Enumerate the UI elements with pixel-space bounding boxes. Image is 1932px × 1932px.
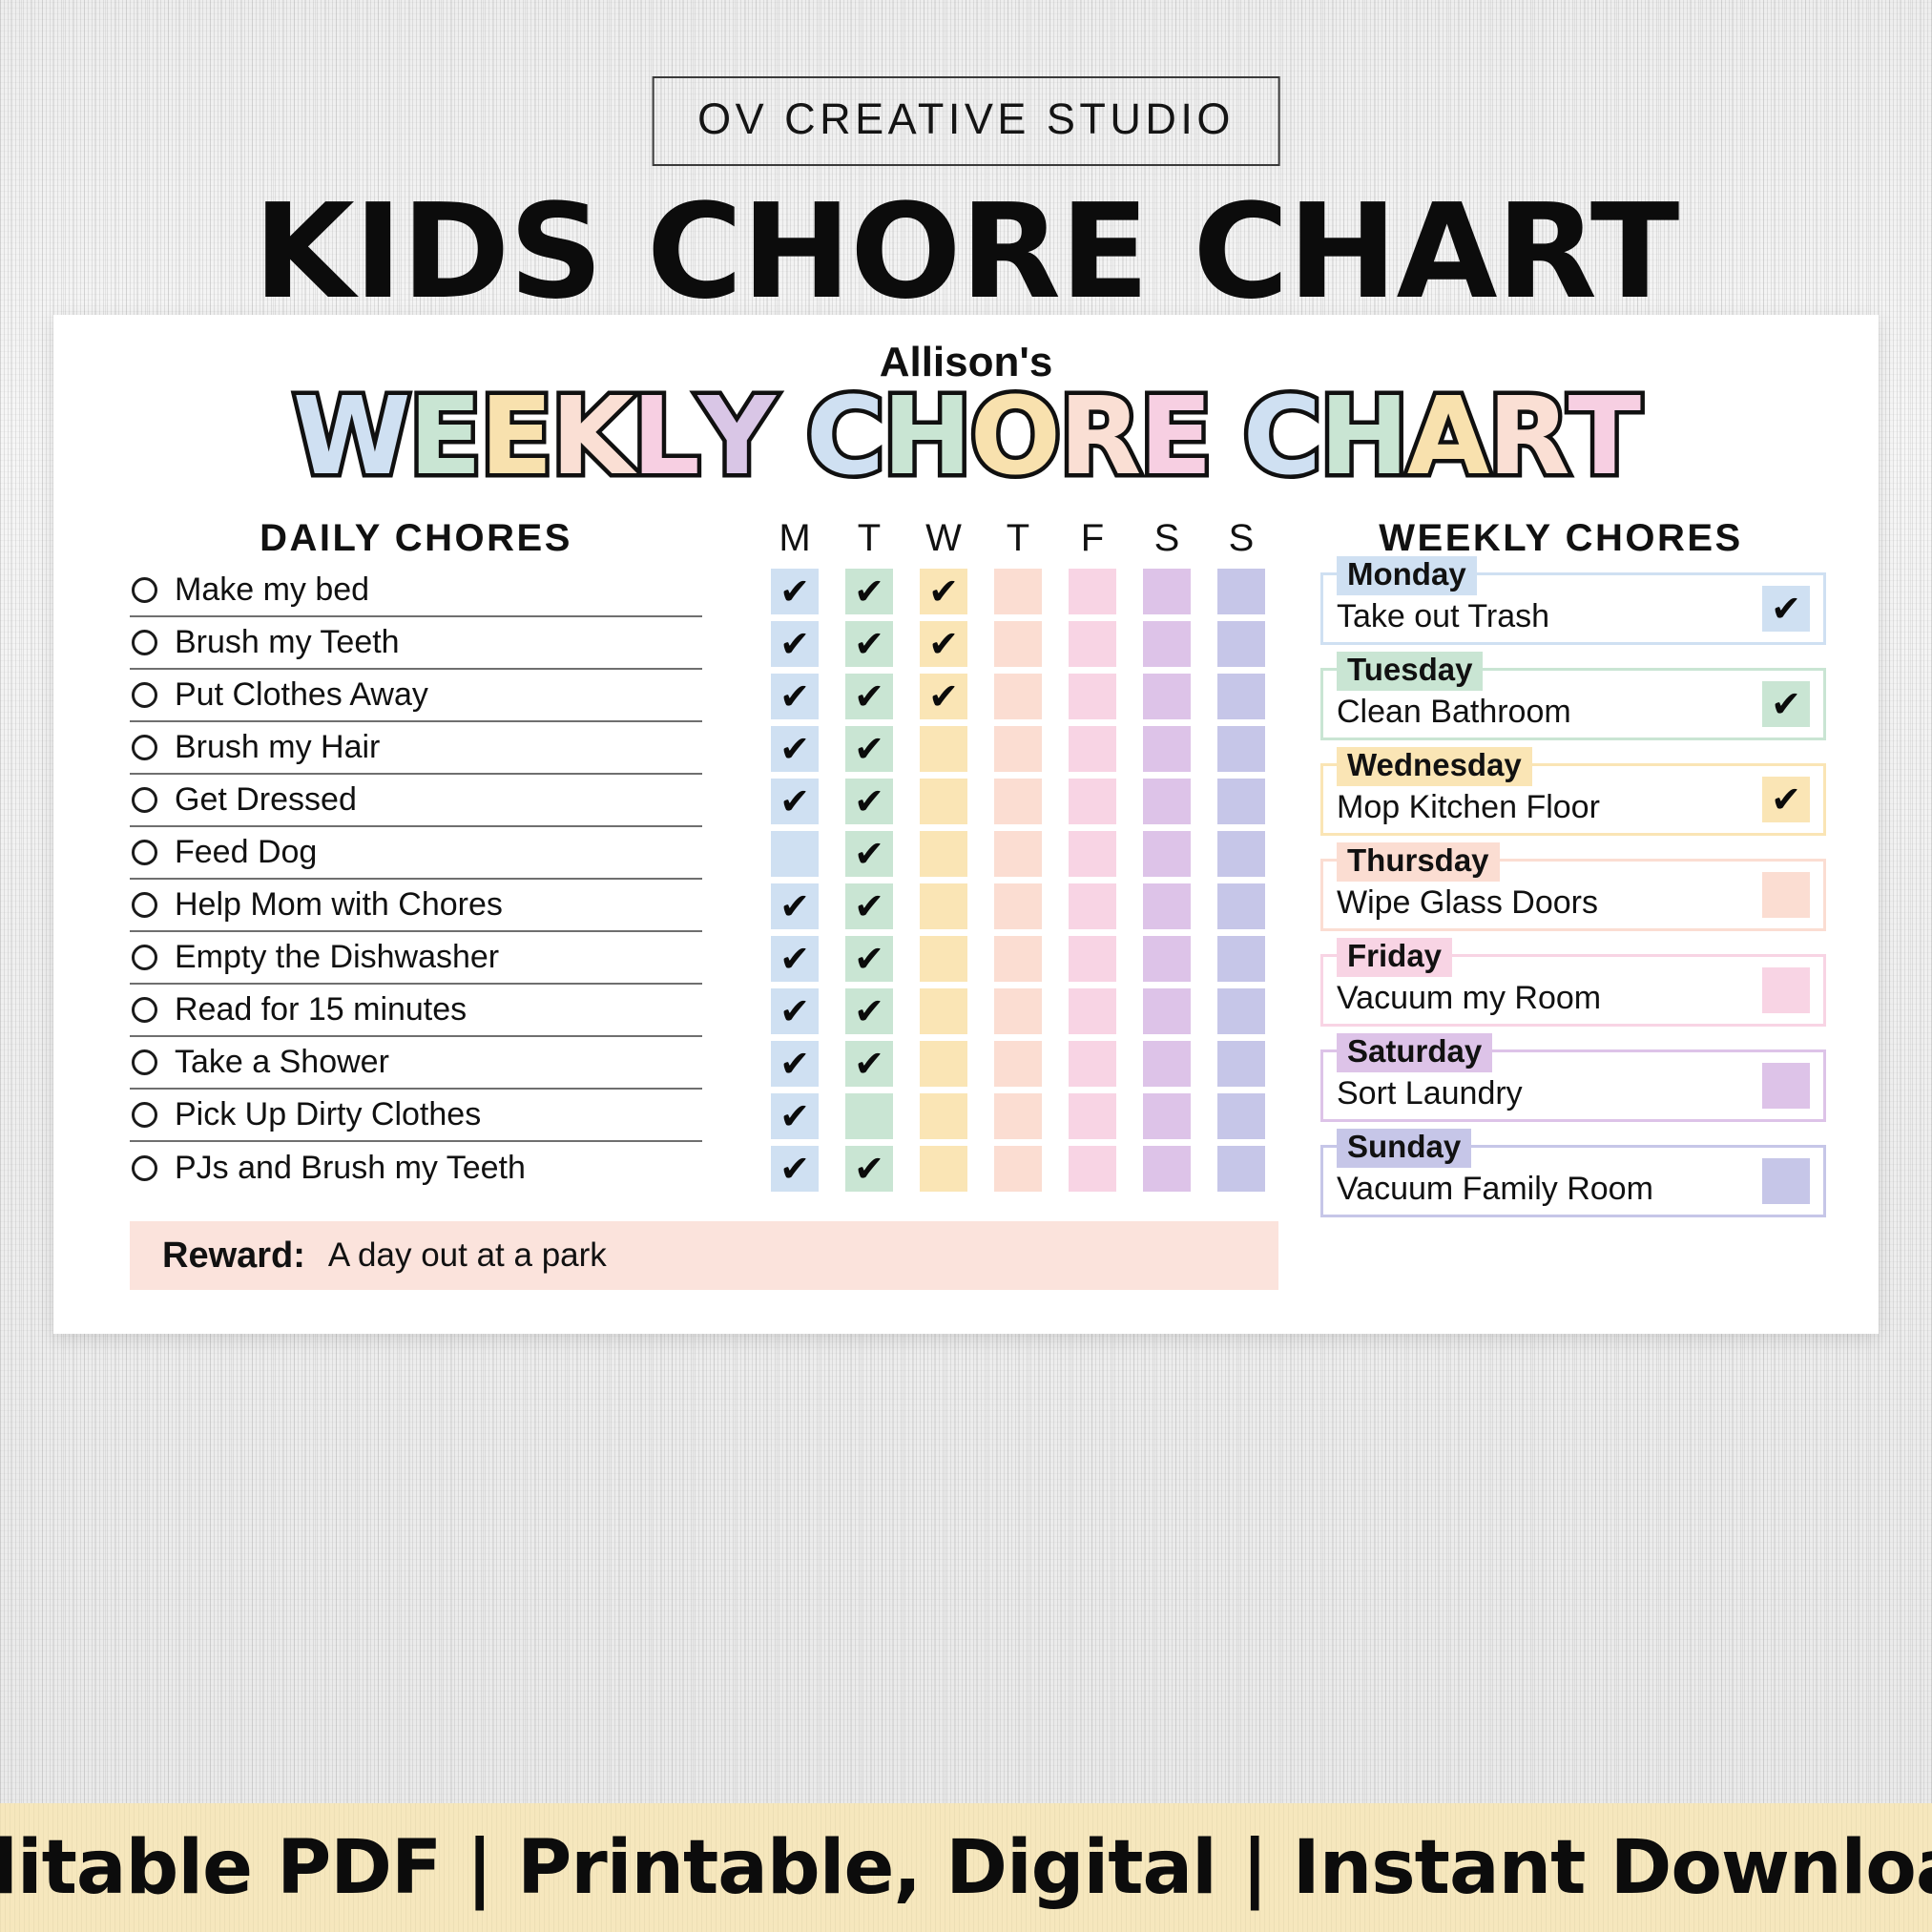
weekly-checkbox-empty[interactable] — [1762, 872, 1810, 918]
grid-cell — [1204, 827, 1278, 880]
checkbox-empty[interactable] — [994, 569, 1042, 614]
weekly-day-label: Thursday — [1337, 842, 1500, 882]
checkbox-empty[interactable] — [994, 1146, 1042, 1192]
grid-cell — [981, 775, 1055, 827]
chore-label: Pick Up Dirty Clothes — [175, 1096, 481, 1133]
bubble-letter: C — [806, 384, 884, 490]
grid-cell — [981, 1142, 1055, 1195]
checkbox-checked[interactable]: ✔ — [845, 726, 893, 772]
grid-cell: ✔ — [758, 617, 832, 670]
checkbox-empty[interactable] — [920, 779, 967, 824]
bubble-letter: O — [970, 384, 1061, 490]
checkbox-checked[interactable]: ✔ — [845, 988, 893, 1034]
weekly-day-label: Friday — [1337, 938, 1452, 977]
checkbox-checked[interactable]: ✔ — [771, 569, 819, 614]
grid-cell: ✔ — [758, 722, 832, 775]
grid-cell: ✔ — [832, 775, 906, 827]
grid-cell: ✔ — [906, 565, 981, 617]
weekly-day-label: Wednesday — [1337, 747, 1532, 786]
checkbox-empty[interactable] — [1143, 936, 1191, 982]
grid-cell — [1055, 1090, 1130, 1142]
chore-label: Empty the Dishwasher — [175, 939, 499, 976]
weekly-task-text[interactable]: Sort Laundry — [1337, 1075, 1523, 1112]
grid-cell: ✔ — [832, 670, 906, 722]
checkbox-empty[interactable] — [1217, 883, 1265, 929]
grid-cell — [1204, 1037, 1278, 1090]
grid-cell — [906, 932, 981, 985]
grid-cell: ✔ — [758, 775, 832, 827]
chore-row: Feed Dog — [130, 827, 702, 880]
grid-cell — [981, 565, 1055, 617]
chore-row: Make my bed — [130, 565, 702, 617]
weekly-task-text[interactable]: Take out Trash — [1337, 598, 1549, 635]
chore-row: Put Clothes Away — [130, 670, 702, 722]
circle-checkbox-icon[interactable] — [132, 577, 157, 603]
checkbox-checked[interactable]: ✔ — [920, 674, 967, 719]
checkbox-empty[interactable] — [1143, 883, 1191, 929]
grid-cell — [1130, 565, 1204, 617]
chore-row: Help Mom with Chores — [130, 880, 702, 932]
grid-cell: ✔ — [832, 985, 906, 1037]
checkbox-checked[interactable]: ✔ — [771, 674, 819, 719]
grid-cell — [1130, 827, 1204, 880]
checkbox-checked[interactable]: ✔ — [845, 569, 893, 614]
checkbox-checked[interactable]: ✔ — [845, 1041, 893, 1087]
circle-checkbox-icon[interactable] — [132, 945, 157, 970]
checkbox-checked[interactable]: ✔ — [771, 1041, 819, 1087]
grid-cell — [1130, 722, 1204, 775]
weekly-task-text[interactable]: Clean Bathroom — [1337, 694, 1571, 731]
circle-checkbox-icon[interactable] — [132, 997, 157, 1023]
grid-cell — [981, 1037, 1055, 1090]
weekly-task-text[interactable]: Wipe Glass Doors — [1337, 884, 1598, 922]
weekly-chore-card: SaturdaySort Laundry — [1320, 1049, 1826, 1122]
grid-cell — [906, 880, 981, 932]
weekly-chore-card: SundayVacuum Family Room — [1320, 1145, 1826, 1217]
chore-row: Empty the Dishwasher — [130, 932, 702, 985]
circle-checkbox-icon[interactable] — [132, 892, 157, 918]
grid-cell — [1130, 985, 1204, 1037]
checkbox-empty[interactable] — [1143, 1093, 1191, 1139]
grid-cell — [1204, 932, 1278, 985]
grid-cell — [981, 985, 1055, 1037]
checkbox-empty[interactable] — [1069, 779, 1116, 824]
bubble-word-weekly: WEEKLY — [293, 384, 774, 490]
checkbox-checked[interactable]: ✔ — [845, 621, 893, 667]
daily-chores-heading: DAILY CHORES — [130, 517, 702, 560]
grid-cell — [1130, 617, 1204, 670]
reward-bar: Reward: A day out at a park — [130, 1221, 1278, 1290]
checkbox-empty[interactable] — [994, 1041, 1042, 1087]
chore-label: Make my bed — [175, 571, 369, 609]
grid-cell — [1055, 932, 1130, 985]
circle-checkbox-icon[interactable] — [132, 735, 157, 760]
footer-text: Editable PDF | Printable, Digital | Inst… — [0, 1825, 1932, 1911]
checkbox-empty[interactable] — [920, 988, 967, 1034]
circle-checkbox-icon[interactable] — [132, 787, 157, 813]
checkbox-empty[interactable] — [1069, 988, 1116, 1034]
bubble-letter: W — [293, 384, 411, 490]
weekly-checkbox-checked[interactable]: ✔ — [1762, 681, 1810, 727]
bubble-letter: Y — [698, 384, 776, 490]
chore-row: Brush my Hair — [130, 722, 702, 775]
checkbox-checked[interactable]: ✔ — [845, 674, 893, 719]
checkbox-empty[interactable] — [1069, 1041, 1116, 1087]
weekly-day-label: Tuesday — [1337, 652, 1483, 691]
grid-cell — [1130, 880, 1204, 932]
checkbox-checked[interactable]: ✔ — [920, 621, 967, 667]
checkbox-empty[interactable] — [1143, 779, 1191, 824]
checkbox-empty[interactable] — [1217, 1093, 1265, 1139]
grid-cell — [1055, 775, 1130, 827]
weekly-day-label: Sunday — [1337, 1129, 1471, 1168]
grid-cell: ✔ — [758, 932, 832, 985]
chore-row: Read for 15 minutes — [130, 985, 702, 1037]
checkbox-empty[interactable] — [920, 831, 967, 877]
grid-cell — [1204, 880, 1278, 932]
grid-cell: ✔ — [832, 1037, 906, 1090]
grid-cell — [1055, 1037, 1130, 1090]
brand-name: OV CREATIVE STUDIO — [697, 94, 1235, 144]
grid-cell — [906, 985, 981, 1037]
checkbox-checked[interactable]: ✔ — [771, 1146, 819, 1192]
grid-cell — [1055, 985, 1130, 1037]
checkbox-empty[interactable] — [1217, 831, 1265, 877]
grid-cell — [1055, 722, 1130, 775]
chore-row: PJs and Brush my Teeth — [130, 1142, 702, 1195]
grid-cell — [1130, 775, 1204, 827]
grid-cell: ✔ — [758, 670, 832, 722]
checkbox-empty[interactable] — [1217, 674, 1265, 719]
grid-cell: ✔ — [832, 565, 906, 617]
checkbox-empty[interactable] — [920, 1041, 967, 1087]
grid-cell: ✔ — [758, 1142, 832, 1195]
bubble-word-chore: CHORE — [806, 384, 1211, 490]
checkbox-checked[interactable]: ✔ — [771, 621, 819, 667]
checkbox-empty[interactable] — [1217, 988, 1265, 1034]
checkbox-empty[interactable] — [1143, 1146, 1191, 1192]
grid-cell — [1055, 617, 1130, 670]
checkbox-empty[interactable] — [1217, 1146, 1265, 1192]
grid-cell: ✔ — [906, 670, 981, 722]
footer-banner: Editable PDF | Printable, Digital | Inst… — [0, 1803, 1932, 1932]
grid-cell — [1204, 722, 1278, 775]
checkbox-empty[interactable] — [920, 1146, 967, 1192]
grid-cell — [832, 1090, 906, 1142]
checkbox-empty[interactable] — [1143, 726, 1191, 772]
bubble-letter: C — [1243, 384, 1321, 490]
checkbox-checked[interactable]: ✔ — [845, 936, 893, 982]
grid-cell — [906, 827, 981, 880]
checkbox-empty[interactable] — [1069, 936, 1116, 982]
grid-cell — [1055, 827, 1130, 880]
checkbox-empty[interactable] — [994, 831, 1042, 877]
grid-cell — [906, 1090, 981, 1142]
grid-cell — [758, 827, 832, 880]
weekly-checkbox-empty[interactable] — [1762, 1158, 1810, 1204]
checkbox-checked[interactable]: ✔ — [771, 883, 819, 929]
checkbox-checked[interactable]: ✔ — [845, 779, 893, 824]
bubble-title: WEEKLYCHORECHART — [53, 384, 1879, 490]
checkbox-empty[interactable] — [1143, 1041, 1191, 1087]
bubble-letter: H — [1319, 384, 1409, 490]
day-letter-4: F — [1055, 517, 1130, 560]
grid-cell: ✔ — [832, 880, 906, 932]
grid-cell: ✔ — [758, 1090, 832, 1142]
weekly-chore-card: FridayVacuum my Room — [1320, 954, 1826, 1027]
chore-label: Feed Dog — [175, 834, 317, 871]
grid-cell — [1204, 617, 1278, 670]
weekly-chores-heading: WEEKLY CHORES — [1294, 517, 1828, 560]
grid-cell — [1130, 1037, 1204, 1090]
checkbox-empty[interactable] — [1143, 569, 1191, 614]
grid-cell — [1130, 670, 1204, 722]
bubble-letter: E — [409, 384, 483, 490]
circle-checkbox-icon[interactable] — [132, 1049, 157, 1075]
checkbox-checked[interactable]: ✔ — [920, 569, 967, 614]
weekly-task-text[interactable]: Vacuum Family Room — [1337, 1171, 1653, 1208]
bubble-letter: E — [480, 384, 553, 490]
grid-cell — [1204, 565, 1278, 617]
day-letter-5: S — [1130, 517, 1204, 560]
grid-cell — [1204, 1142, 1278, 1195]
day-letter-0: M — [758, 517, 832, 560]
checkbox-checked[interactable]: ✔ — [771, 936, 819, 982]
day-letter-row: MTWTFSS — [758, 517, 1278, 560]
checkbox-empty[interactable] — [994, 988, 1042, 1034]
checkbox-empty[interactable] — [994, 726, 1042, 772]
chore-label: Brush my Teeth — [175, 624, 400, 661]
checkbox-empty[interactable] — [1069, 569, 1116, 614]
chore-row: Get Dressed — [130, 775, 702, 827]
weekly-checkbox-checked[interactable]: ✔ — [1762, 586, 1810, 632]
checkbox-checked[interactable]: ✔ — [771, 779, 819, 824]
weekly-chore-card: WednesdayMop Kitchen Floor✔ — [1320, 763, 1826, 836]
chore-row: Pick Up Dirty Clothes — [130, 1090, 702, 1142]
grid-cell: ✔ — [832, 932, 906, 985]
bubble-letter: R — [1487, 384, 1569, 490]
bubble-word-chart: CHART — [1243, 384, 1639, 490]
chore-label: Put Clothes Away — [175, 676, 428, 714]
grid-cell — [981, 827, 1055, 880]
checkbox-empty[interactable] — [771, 831, 819, 877]
checkbox-empty[interactable] — [1217, 936, 1265, 982]
checkbox-empty[interactable] — [920, 883, 967, 929]
checkbox-empty[interactable] — [994, 674, 1042, 719]
weekly-checkbox-empty[interactable] — [1762, 967, 1810, 1013]
bubble-letter: H — [883, 384, 972, 490]
column-headings: DAILY CHORES MTWTFSS WEEKLY CHORES — [53, 517, 1879, 565]
grid-cell — [1130, 1142, 1204, 1195]
grid-cell — [1204, 1090, 1278, 1142]
grid-cell: ✔ — [832, 617, 906, 670]
grid-cell — [1055, 1142, 1130, 1195]
grid-cell: ✔ — [832, 722, 906, 775]
bubble-letter: R — [1059, 384, 1141, 490]
bubble-letter: K — [551, 384, 634, 490]
chore-label: Help Mom with Chores — [175, 886, 503, 924]
chore-chart-card: Allison's WEEKLYCHORECHART DAILY CHORES … — [53, 315, 1879, 1334]
circle-checkbox-icon[interactable] — [132, 682, 157, 708]
daily-chores-list: Make my bedBrush my TeethPut Clothes Awa… — [130, 565, 702, 1195]
grid-cell — [1055, 880, 1130, 932]
checkbox-empty[interactable] — [1069, 674, 1116, 719]
grid-cell — [1204, 670, 1278, 722]
circle-checkbox-icon[interactable] — [132, 1155, 157, 1181]
day-letter-2: W — [906, 517, 981, 560]
reward-value[interactable]: A day out at a park — [328, 1236, 607, 1275]
checkbox-empty[interactable] — [1069, 621, 1116, 667]
checkbox-empty[interactable] — [1069, 1146, 1116, 1192]
weekly-day-label: Monday — [1337, 556, 1477, 595]
checkbox-empty[interactable] — [1069, 726, 1116, 772]
checkbox-empty[interactable] — [1143, 674, 1191, 719]
weekly-checkbox-empty[interactable] — [1762, 1063, 1810, 1109]
circle-checkbox-icon[interactable] — [132, 630, 157, 655]
grid-cell: ✔ — [758, 880, 832, 932]
chore-row: Brush my Teeth — [130, 617, 702, 670]
brand-badge: OV CREATIVE STUDIO — [652, 76, 1280, 166]
bubble-letter: E — [1139, 384, 1213, 490]
weekly-chores-list: MondayTake out Trash✔TuesdayClean Bathro… — [1320, 572, 1826, 1240]
weekly-chore-card: ThursdayWipe Glass Doors — [1320, 859, 1826, 931]
checkbox-empty[interactable] — [1217, 621, 1265, 667]
grid-cell — [981, 880, 1055, 932]
checkbox-checked[interactable]: ✔ — [771, 1093, 819, 1139]
grid-cell — [906, 775, 981, 827]
grid-cell — [1055, 670, 1130, 722]
grid-cell: ✔ — [832, 827, 906, 880]
grid-cell — [1204, 775, 1278, 827]
day-letter-3: T — [981, 517, 1055, 560]
circle-checkbox-icon[interactable] — [132, 840, 157, 865]
checkbox-empty[interactable] — [1143, 988, 1191, 1034]
grid-cell — [1055, 565, 1130, 617]
chore-label: PJs and Brush my Teeth — [175, 1150, 526, 1187]
checkbox-empty[interactable] — [845, 1093, 893, 1139]
checkbox-empty[interactable] — [994, 621, 1042, 667]
checkbox-checked[interactable]: ✔ — [845, 883, 893, 929]
checkbox-empty[interactable] — [994, 883, 1042, 929]
grid-cell — [1130, 1090, 1204, 1142]
weekly-task-text[interactable]: Mop Kitchen Floor — [1337, 789, 1600, 826]
grid-cell: ✔ — [906, 617, 981, 670]
page-title: KIDS CHORE CHART — [0, 177, 1932, 328]
checkbox-empty[interactable] — [1217, 726, 1265, 772]
checkbox-checked[interactable]: ✔ — [845, 1146, 893, 1192]
checkbox-empty[interactable] — [1069, 1093, 1116, 1139]
checkbox-checked[interactable]: ✔ — [771, 988, 819, 1034]
chore-label: Take a Shower — [175, 1044, 389, 1081]
checkbox-empty[interactable] — [920, 936, 967, 982]
checkbox-empty[interactable] — [1217, 1041, 1265, 1087]
grid-cell — [906, 1142, 981, 1195]
checkbox-checked[interactable]: ✔ — [845, 831, 893, 877]
chore-label: Brush my Hair — [175, 729, 380, 766]
grid-cell — [906, 1037, 981, 1090]
checkbox-empty[interactable] — [1069, 883, 1116, 929]
circle-checkbox-icon[interactable] — [132, 1102, 157, 1128]
grid-cell — [981, 1090, 1055, 1142]
checkbox-checked[interactable]: ✔ — [771, 726, 819, 772]
weekly-day-label: Saturday — [1337, 1033, 1492, 1072]
grid-cell: ✔ — [758, 985, 832, 1037]
checkbox-empty[interactable] — [994, 1093, 1042, 1139]
chore-label: Get Dressed — [175, 781, 357, 819]
daily-checkbox-grid: ✔✔✔✔✔✔✔✔✔✔✔✔✔✔✔✔✔✔✔✔✔✔✔✔✔ — [758, 565, 1278, 1195]
grid-cell — [981, 617, 1055, 670]
day-letter-6: S — [1204, 517, 1278, 560]
checkbox-empty[interactable] — [920, 1093, 967, 1139]
grid-cell — [906, 722, 981, 775]
checkbox-empty[interactable] — [994, 779, 1042, 824]
grid-cell: ✔ — [758, 1037, 832, 1090]
chore-row: Take a Shower — [130, 1037, 702, 1090]
day-letter-1: T — [832, 517, 906, 560]
checkbox-empty[interactable] — [994, 936, 1042, 982]
checkbox-empty[interactable] — [1143, 831, 1191, 877]
weekly-checkbox-checked[interactable]: ✔ — [1762, 777, 1810, 822]
grid-cell — [1130, 932, 1204, 985]
weekly-chore-card: MondayTake out Trash✔ — [1320, 572, 1826, 645]
grid-cell — [1204, 985, 1278, 1037]
checkbox-empty[interactable] — [1217, 569, 1265, 614]
grid-cell: ✔ — [832, 1142, 906, 1195]
checkbox-empty[interactable] — [1217, 779, 1265, 824]
checkbox-empty[interactable] — [1069, 831, 1116, 877]
grid-cell: ✔ — [758, 565, 832, 617]
checkbox-empty[interactable] — [920, 726, 967, 772]
reward-label: Reward: — [162, 1236, 305, 1277]
chore-label: Read for 15 minutes — [175, 991, 467, 1028]
weekly-chore-card: TuesdayClean Bathroom✔ — [1320, 668, 1826, 740]
grid-cell — [981, 670, 1055, 722]
weekly-task-text[interactable]: Vacuum my Room — [1337, 980, 1601, 1017]
bubble-letter: L — [632, 384, 699, 490]
grid-cell — [981, 722, 1055, 775]
bubble-letter: A — [1407, 384, 1490, 490]
bubble-letter: T — [1568, 384, 1641, 490]
grid-cell — [981, 932, 1055, 985]
checkbox-empty[interactable] — [1143, 621, 1191, 667]
